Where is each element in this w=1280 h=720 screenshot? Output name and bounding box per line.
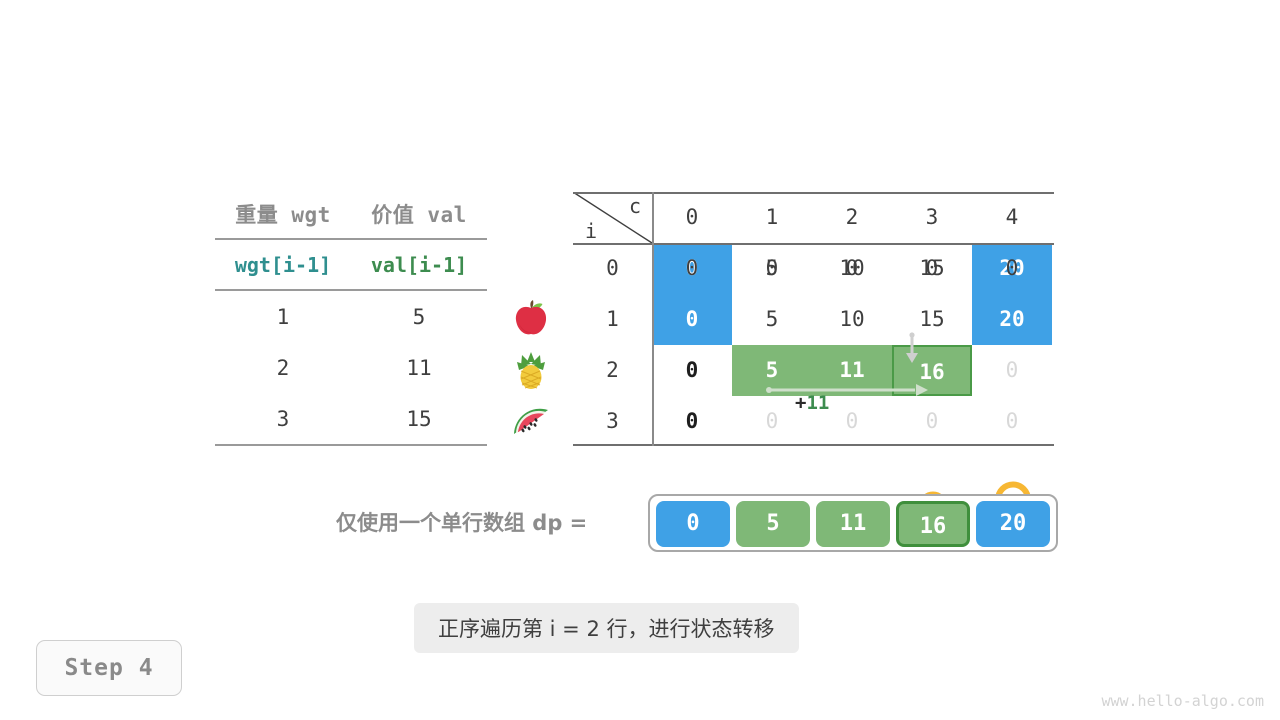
watermelon-icon xyxy=(508,398,554,444)
transition-delta-number: 11 xyxy=(806,392,829,414)
dp-cell-r3-c3: 0 xyxy=(892,396,972,447)
dp-row-header-2: 2 xyxy=(573,345,652,396)
dp-matrix-corner: c i xyxy=(573,192,652,243)
dp-cell-r0-c1: 0 xyxy=(732,243,812,294)
dp-col-header-4: 4 xyxy=(972,192,1052,243)
items-row-3-value: 15 xyxy=(351,393,487,445)
items-table-grid: 重量 wgt 价值 val wgt[i-1] val[i-1] 1 5 2 11… xyxy=(215,190,487,446)
dp-row-header-1: 1 xyxy=(573,294,652,345)
items-row-3: 3 15 xyxy=(215,393,487,445)
items-row-2: 2 11 xyxy=(215,342,487,393)
vertical-transition-arrow xyxy=(901,332,923,368)
dp-cell-r3-c0: 0 xyxy=(652,396,732,447)
apple-icon xyxy=(508,296,554,342)
watermark: www.hello-algo.com xyxy=(1101,692,1264,710)
dp-cell-r1-c0-v: 0 xyxy=(652,294,732,345)
step-badge: Step 4 xyxy=(36,640,182,696)
dp-cell-r1-c2-v: 10 xyxy=(812,294,892,345)
dp-cell-r0-c0: 0 xyxy=(652,243,732,294)
dp-array-cell-2: 11 xyxy=(816,501,890,547)
dp-matrix-header-rule xyxy=(573,243,1054,245)
dp-matrix-bottom-rule xyxy=(573,444,1054,446)
items-row-3-weight: 3 xyxy=(215,393,351,445)
items-row-1-value: 5 xyxy=(351,290,487,342)
dp-col-header-0: 0 xyxy=(652,192,732,243)
caption-text: 正序遍历第 i = 2 行，进行状态转移 xyxy=(414,603,799,653)
dp-array-cell-3: 16 xyxy=(896,501,970,547)
dp-cell-r2-c4: 0 xyxy=(972,345,1052,396)
items-table-subheader-row: wgt[i-1] val[i-1] xyxy=(215,239,487,290)
dp-cell-r0-c3: 0 xyxy=(892,243,972,294)
dp-array-cell-1: 5 xyxy=(736,501,810,547)
dp-cell-r0-c2: 0 xyxy=(812,243,892,294)
dp-array-container: 0 5 11 16 20 xyxy=(648,494,1058,552)
items-row-2-value: 11 xyxy=(351,342,487,393)
dp-cell-r1-c1-v: 5 xyxy=(732,294,812,345)
transition-delta-sign: + xyxy=(795,392,806,414)
dp-array-cell-4: 20 xyxy=(976,501,1050,547)
transition-delta-label: +11 xyxy=(795,392,829,414)
dp-array-label: 仅使用一个单行数组 dp = xyxy=(336,494,587,552)
items-subheader-val: val[i-1] xyxy=(351,239,487,290)
dp-col-header-3: 3 xyxy=(892,192,972,243)
pineapple-icon xyxy=(508,347,554,393)
items-subheader-wgt: wgt[i-1] xyxy=(215,239,351,290)
horizontal-transition-arrow xyxy=(765,382,933,398)
dp-row-header-3: 3 xyxy=(573,396,652,447)
dp-cell-r0-c4: 0 xyxy=(972,243,1052,294)
dp-array-section: 仅使用一个单行数组 dp = 0 5 11 16 20 xyxy=(336,494,1060,552)
dp-matrix-vertical-rule xyxy=(652,192,654,446)
items-row-1: 1 5 xyxy=(215,290,487,342)
dp-cell-r1-c4-v: 20 xyxy=(972,294,1052,345)
items-table-header-row: 重量 wgt 价值 val xyxy=(215,190,487,239)
dp-cell-r2-c0: 0 xyxy=(652,345,732,396)
dp-col-header-2: 2 xyxy=(812,192,892,243)
dp-matrix: 0 5 10 15 20 c i 0 1 2 3 4 0 1 2 3 0 0 0… xyxy=(573,192,1054,446)
items-row-2-weight: 2 xyxy=(215,342,351,393)
items-row-1-weight: 1 xyxy=(215,290,351,342)
dp-corner-col-label: c xyxy=(629,194,641,218)
dp-row-header-0: 0 xyxy=(573,243,652,294)
dp-array-cell-0: 0 xyxy=(656,501,730,547)
dp-matrix-grid: 0 5 10 15 20 c i 0 1 2 3 4 0 1 2 3 0 0 0… xyxy=(573,192,1054,446)
dp-col-header-1: 1 xyxy=(732,192,812,243)
dp-cell-r3-c4: 0 xyxy=(972,396,1052,447)
items-table: 重量 wgt 价值 val wgt[i-1] val[i-1] 1 5 2 11… xyxy=(215,190,487,446)
dp-corner-row-label: i xyxy=(585,219,597,243)
items-header-weight: 重量 wgt xyxy=(215,190,351,239)
dp-matrix-top-rule xyxy=(573,192,1054,194)
items-header-value: 价值 val xyxy=(351,190,487,239)
